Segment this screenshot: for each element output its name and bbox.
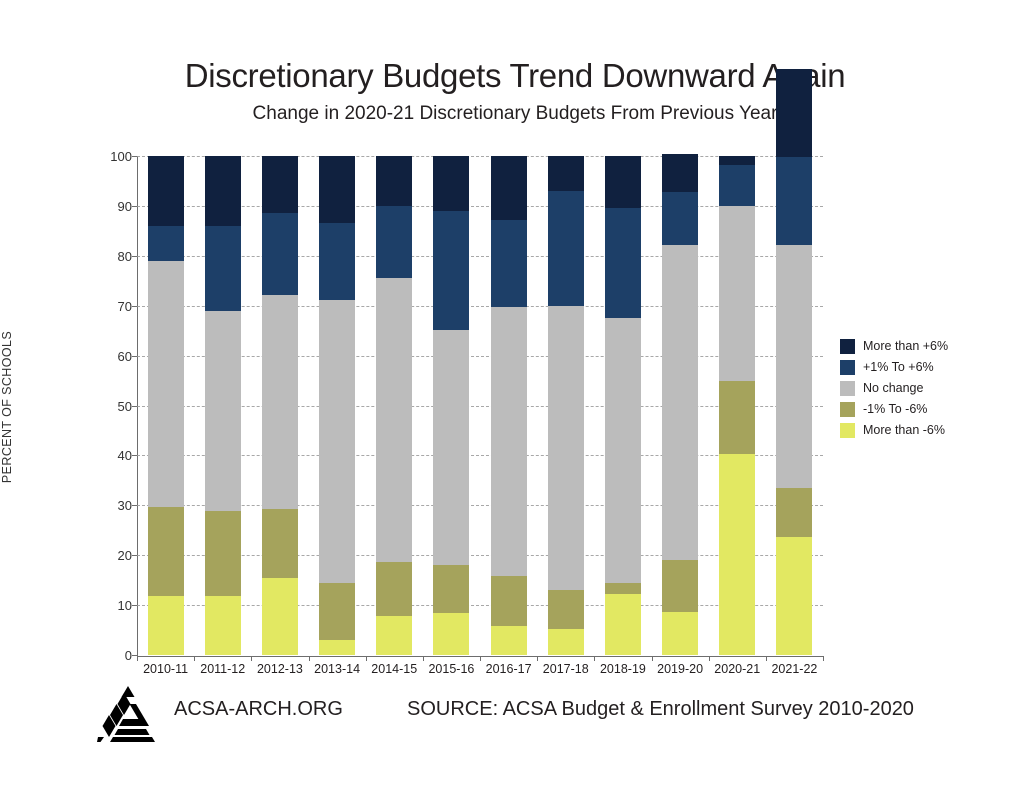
x-axis-tick-mark (423, 656, 424, 661)
bar-segment[interactable] (148, 507, 184, 596)
bar-segment[interactable] (376, 616, 412, 655)
bar-segment[interactable] (205, 596, 241, 655)
x-axis-tick-label: 2021-22 (766, 662, 823, 677)
y-axis-tick-mark (132, 655, 137, 656)
bar-segment[interactable] (605, 594, 641, 655)
x-axis-tick-mark (823, 656, 824, 661)
x-axis-tick-mark (594, 656, 595, 661)
bar-stack[interactable] (205, 156, 241, 655)
bar-stack[interactable] (491, 156, 527, 655)
bar-segment[interactable] (262, 295, 298, 510)
x-axis-tick-mark (251, 656, 252, 661)
x-axis-tick-mark (480, 656, 481, 661)
x-axis-tick-label: 2014-15 (366, 662, 423, 677)
bar-segment[interactable] (491, 576, 527, 626)
y-axis-tick-label: 10 (92, 599, 132, 612)
bar-segment[interactable] (719, 156, 755, 165)
legend-swatch-icon (840, 381, 855, 396)
chart-container: Discretionary Budgets Trend Downward Aga… (0, 0, 1030, 796)
x-axis-tick-label: 2011-12 (194, 662, 251, 677)
y-axis-tick-mark (132, 406, 137, 407)
bar-segment[interactable] (776, 245, 812, 489)
y-axis-tick-label: 50 (92, 400, 132, 413)
bar-stack[interactable] (662, 156, 698, 655)
bar-segment[interactable] (148, 156, 184, 226)
y-axis-tick-mark (132, 356, 137, 357)
y-axis-tick-mark (132, 505, 137, 506)
bar-segment[interactable] (662, 612, 698, 655)
legend-swatch-icon (840, 423, 855, 438)
bar-stack[interactable] (319, 156, 355, 655)
x-axis-tick-mark (366, 656, 367, 661)
footer-source: SOURCE: ACSA Budget & Enrollment Survey … (407, 698, 914, 721)
legend-item[interactable]: +1% To +6% (840, 358, 1020, 376)
chart-subtitle: Change in 2020-21 Discretionary Budgets … (0, 100, 1030, 128)
x-axis-tick-mark (709, 656, 710, 661)
bar-segment[interactable] (376, 562, 412, 616)
x-axis-tick-label: 2020-21 (709, 662, 766, 677)
x-axis-tick-label: 2018-19 (594, 662, 651, 677)
y-axis-tick-label: 40 (92, 449, 132, 462)
bar-stack[interactable] (262, 156, 298, 655)
legend-item-label: +1% To +6% (863, 360, 934, 374)
bar-segment[interactable] (205, 226, 241, 311)
bar-segment[interactable] (548, 306, 584, 590)
y-axis-tick-label: 0 (92, 649, 132, 662)
y-axis-tick-mark (132, 605, 137, 606)
x-axis-tick-label: 2017-18 (537, 662, 594, 677)
y-axis-tick-label: 100 (92, 150, 132, 163)
bar-segment[interactable] (376, 206, 412, 278)
bar-segment[interactable] (662, 154, 698, 192)
bar-segment[interactable] (319, 300, 355, 583)
bar-segment[interactable] (319, 583, 355, 640)
y-axis-tick-label: 80 (92, 250, 132, 263)
bar-segment[interactable] (719, 381, 755, 455)
y-axis-tick-labels: 0102030405060708090100 (88, 156, 132, 655)
bar-segment[interactable] (776, 69, 812, 157)
bar-segment[interactable] (376, 156, 412, 206)
bar-stack[interactable] (148, 156, 184, 655)
x-axis-tick-mark (537, 656, 538, 661)
x-axis-tick-mark (766, 656, 767, 661)
bar-segment[interactable] (262, 509, 298, 578)
x-axis-tick-label: 2019-20 (652, 662, 709, 677)
x-axis-tick-label: 2010-11 (137, 662, 194, 677)
bar-segment[interactable] (776, 157, 812, 245)
bar-segment[interactable] (433, 565, 469, 613)
title-block: Discretionary Budgets Trend Downward Aga… (0, 56, 1030, 128)
y-axis-tick-mark (132, 256, 137, 257)
bar-segment[interactable] (719, 165, 755, 206)
y-axis-tick-mark (132, 156, 137, 157)
x-axis-tick-mark (194, 656, 195, 661)
y-axis-tick-label: 30 (92, 499, 132, 512)
page-title: Discretionary Budgets Trend Downward Aga… (0, 56, 1030, 96)
footer-website[interactable]: ACSA-ARCH.ORG (174, 698, 343, 721)
acsa-triangle-logo (97, 686, 159, 742)
x-axis-tick-mark (309, 656, 310, 661)
x-axis-tick-label: 2016-17 (480, 662, 537, 677)
bar-segment[interactable] (548, 629, 584, 655)
bar-stack[interactable] (376, 156, 412, 655)
legend: More than +6%+1% To +6%No change-1% To -… (840, 337, 1020, 442)
legend-item[interactable]: No change (840, 379, 1020, 397)
bar-segment[interactable] (205, 156, 241, 226)
bar-segment[interactable] (319, 640, 355, 655)
y-axis-tick-label: 20 (92, 549, 132, 562)
bar-segment[interactable] (548, 191, 584, 306)
bar-segment[interactable] (433, 613, 469, 655)
bar-segment[interactable] (719, 454, 755, 655)
bar-segment[interactable] (262, 156, 298, 213)
y-axis-tick-mark (132, 206, 137, 207)
legend-item[interactable]: More than -6% (840, 421, 1020, 439)
bar-segment[interactable] (319, 156, 355, 223)
y-axis-tick-mark (132, 455, 137, 456)
bar-segment[interactable] (376, 278, 412, 562)
bar-segment[interactable] (491, 220, 527, 307)
bar-stack[interactable] (548, 156, 584, 655)
legend-item-label: More than -6% (863, 423, 945, 437)
bar-segment[interactable] (662, 192, 698, 245)
bar-segment[interactable] (662, 245, 698, 560)
y-axis-tick-label: 90 (92, 200, 132, 213)
bar-segment[interactable] (205, 311, 241, 512)
plot-area (137, 156, 823, 655)
x-axis-tick-label: 2015-16 (423, 662, 480, 677)
bar-segment[interactable] (319, 223, 355, 300)
bar-segment[interactable] (662, 560, 698, 612)
bar-segment[interactable] (433, 156, 469, 211)
bar-segment[interactable] (491, 626, 527, 655)
bar-segment[interactable] (719, 206, 755, 381)
legend-swatch-icon (840, 339, 855, 354)
bar-segment[interactable] (148, 596, 184, 655)
bar-segment[interactable] (491, 307, 527, 576)
x-axis-tick-label: 2012-13 (251, 662, 308, 677)
y-axis-tick-mark (132, 306, 137, 307)
legend-item-label: No change (863, 381, 923, 395)
bar-stack[interactable] (605, 156, 641, 655)
bar-segment[interactable] (205, 511, 241, 596)
bar-segment[interactable] (605, 156, 641, 208)
bar-segment[interactable] (605, 583, 641, 594)
legend-item[interactable]: More than +6% (840, 337, 1020, 355)
bar-segment[interactable] (776, 488, 812, 537)
legend-item[interactable]: -1% To -6% (840, 400, 1020, 418)
legend-swatch-icon (840, 402, 855, 417)
legend-item-label: More than +6% (863, 339, 948, 353)
bar-stack[interactable] (433, 156, 469, 655)
x-axis-tick-mark (652, 656, 653, 661)
y-axis-tick-mark (132, 555, 137, 556)
legend-swatch-icon (840, 360, 855, 375)
bar-segment[interactable] (605, 208, 641, 318)
bar-segment[interactable] (776, 537, 812, 655)
bar-segment[interactable] (148, 226, 184, 261)
y-axis-title: PERCENT OF SCHOOLS (0, 237, 14, 577)
x-axis-tick-mark (137, 656, 138, 661)
y-axis-tick-label: 70 (92, 300, 132, 313)
x-axis-tick-label: 2013-14 (309, 662, 366, 677)
bar-segment[interactable] (148, 261, 184, 508)
legend-item-label: -1% To -6% (863, 402, 927, 416)
bar-segment[interactable] (433, 211, 469, 330)
bar-segment[interactable] (433, 330, 469, 566)
bar-segment[interactable] (548, 590, 584, 629)
bar-segment[interactable] (605, 318, 641, 583)
bar-stack[interactable] (719, 156, 755, 655)
y-axis-tick-label: 60 (92, 350, 132, 363)
bar-segment[interactable] (548, 156, 584, 191)
bar-segment[interactable] (262, 213, 298, 295)
bar-segment[interactable] (491, 156, 527, 220)
bar-segment[interactable] (262, 578, 298, 655)
bar-stack[interactable] (776, 156, 812, 655)
